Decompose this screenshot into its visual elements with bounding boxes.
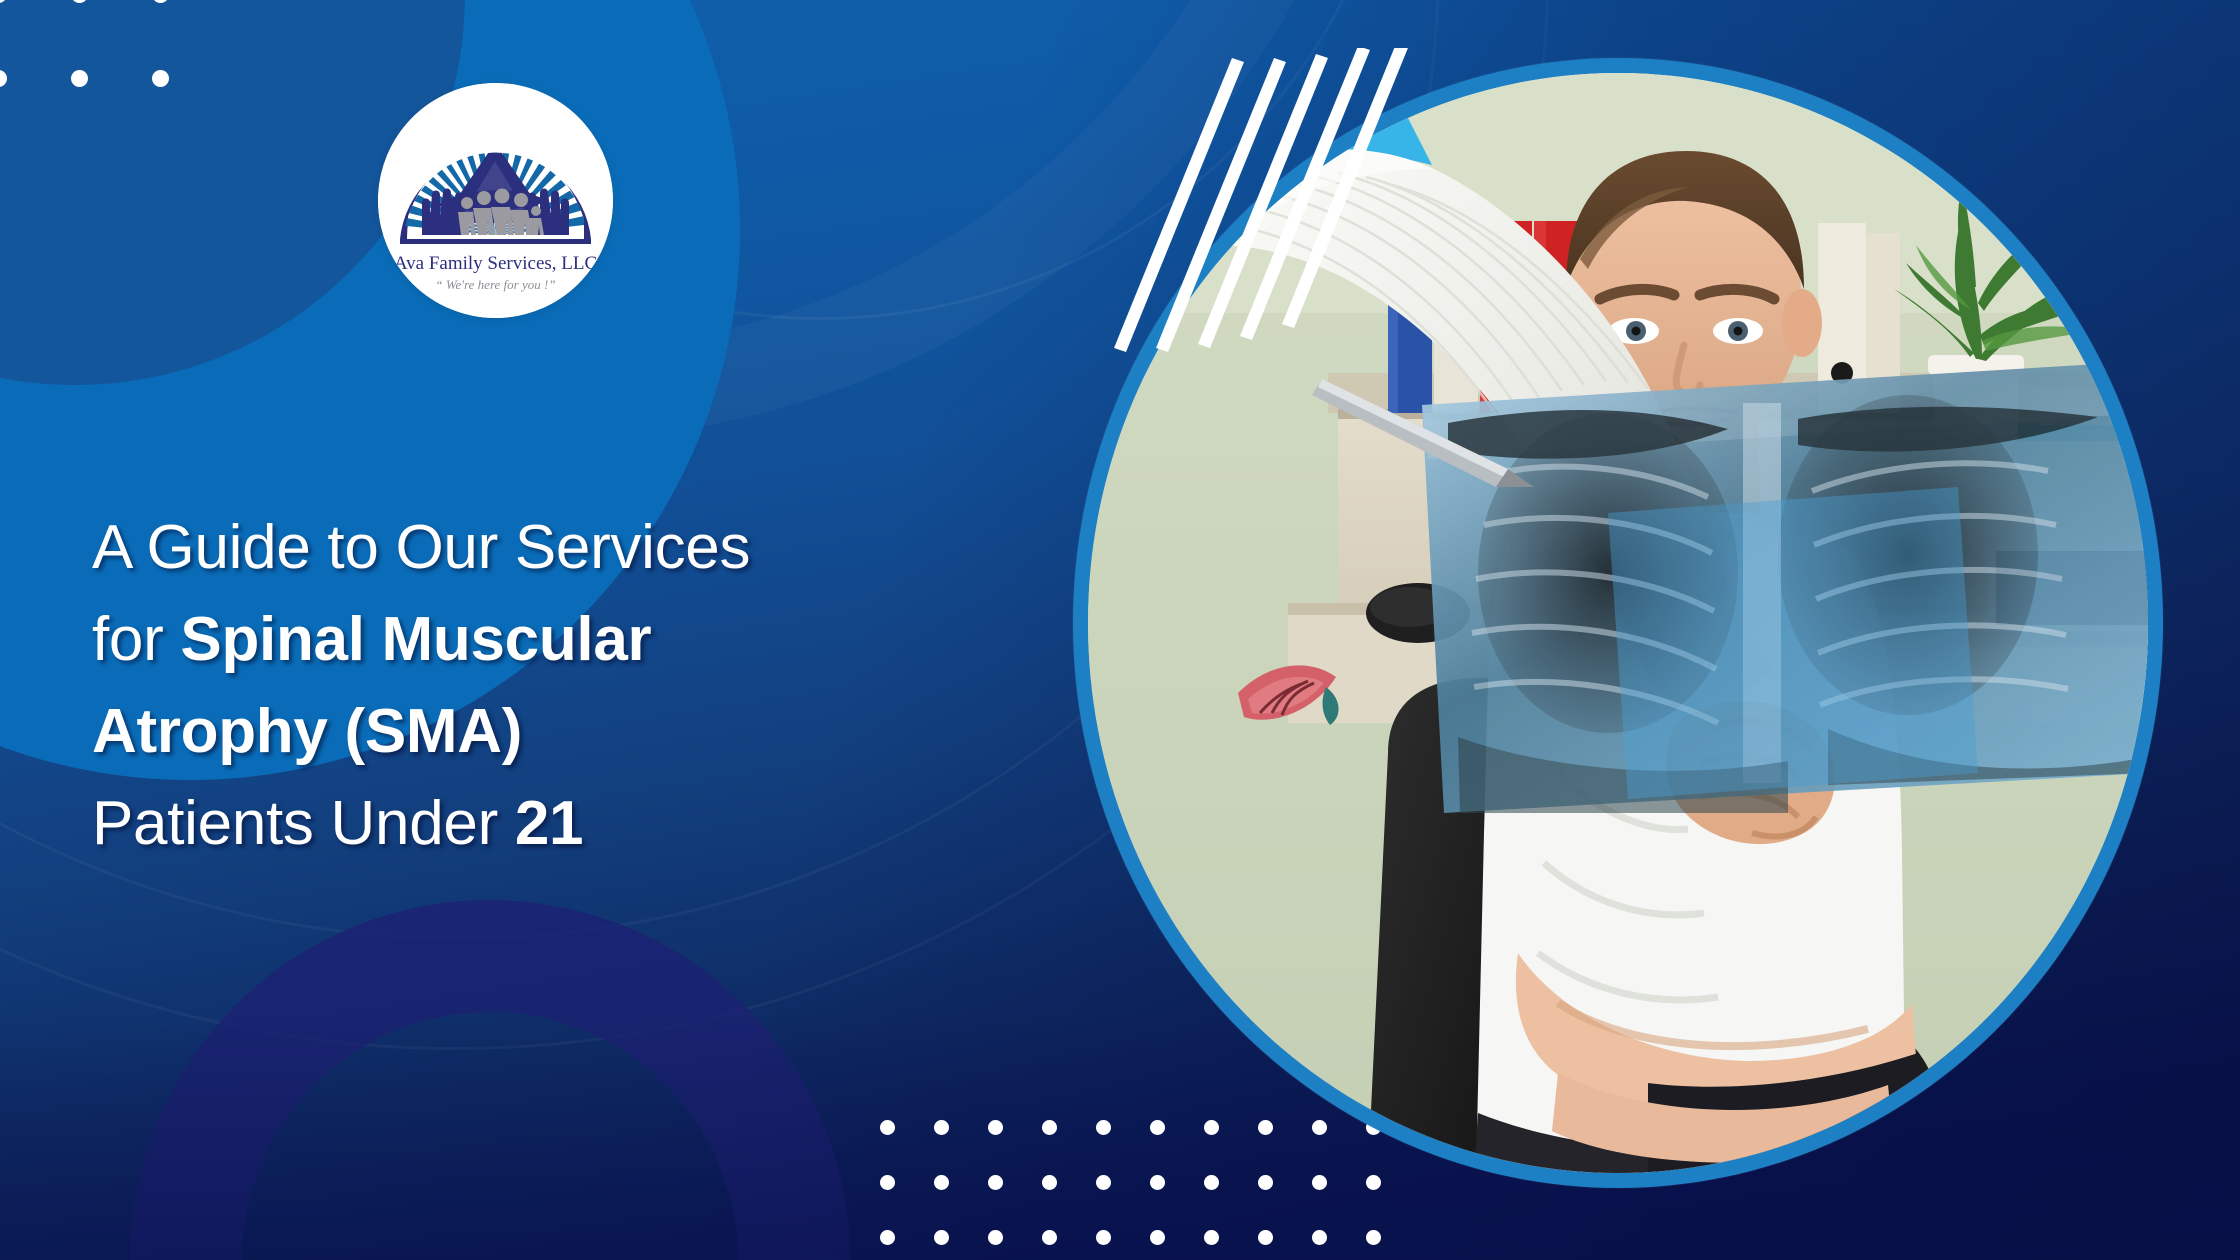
decor-dot [1366, 1230, 1381, 1245]
decor-dot [1258, 1230, 1273, 1245]
headline-line-3: Atrophy (SMA) [92, 686, 1102, 778]
decor-dot [1150, 1230, 1165, 1245]
decor-dot [1312, 1175, 1327, 1190]
logo-company-text: Ava Family Services, LLC [394, 253, 597, 274]
decor-dot [1204, 1175, 1219, 1190]
decor-dot [1258, 1175, 1273, 1190]
chest-xray-film [1422, 361, 2148, 813]
headline-line-1: A Guide to Our Services [92, 502, 1102, 594]
headline-line-4-bold: 21 [515, 789, 583, 858]
headline-line-1-text: A Guide to Our Services [92, 513, 750, 582]
top-left-dot-grid [0, 0, 190, 116]
photo-circle-clip [1088, 73, 2148, 1173]
headline-line-4: Patients Under 21 [92, 778, 1102, 870]
decor-dot [880, 1175, 895, 1190]
headline-block: A Guide to Our Services for Spinal Muscu… [92, 502, 1102, 870]
decor-dot [152, 0, 169, 3]
decor-dot [934, 1230, 949, 1245]
decor-dot [1042, 1120, 1057, 1135]
decor-dot [71, 0, 88, 3]
decor-dot [1042, 1230, 1057, 1245]
headline-line-2: for Spinal Muscular [92, 594, 1102, 686]
decor-dot [988, 1120, 1003, 1135]
decor-dot [988, 1230, 1003, 1245]
ava-family-services-logo-icon: Ava Family Services, LLC “ We're here fo… [378, 83, 613, 318]
decor-dot [1096, 1175, 1111, 1190]
banner-canvas: Ava Family Services, LLC “ We're here fo… [0, 0, 2240, 1260]
decor-dot [0, 0, 7, 3]
headline-line-4-regular: Patients Under [92, 789, 515, 858]
headline-line-2-bold: Spinal Muscular [180, 605, 651, 674]
decor-dot [71, 70, 88, 87]
decor-dot [152, 70, 169, 87]
decor-dot [880, 1120, 895, 1135]
decor-dot [934, 1120, 949, 1135]
headline-line-2-regular: for [92, 605, 180, 674]
decor-dot [880, 1230, 895, 1245]
photo-circle-frame [1073, 58, 2163, 1188]
decor-dot [0, 70, 7, 87]
logo-tagline-text: “ We're here for you !” [435, 277, 555, 292]
decor-dot [1096, 1230, 1111, 1245]
decor-dot [1150, 1175, 1165, 1190]
bottom-left-navy-ring [130, 900, 850, 1260]
patient-xray-consultation-photo [1088, 73, 2148, 1173]
decor-dot [1312, 1230, 1327, 1245]
decor-dot [934, 1175, 949, 1190]
headline-line-3-bold: Atrophy (SMA) [92, 697, 522, 766]
decor-dot [1204, 1230, 1219, 1245]
decor-dot [988, 1175, 1003, 1190]
decor-dot [1366, 1175, 1381, 1190]
logo-badge[interactable]: Ava Family Services, LLC “ We're here fo… [378, 83, 613, 318]
decor-dot [1042, 1175, 1057, 1190]
